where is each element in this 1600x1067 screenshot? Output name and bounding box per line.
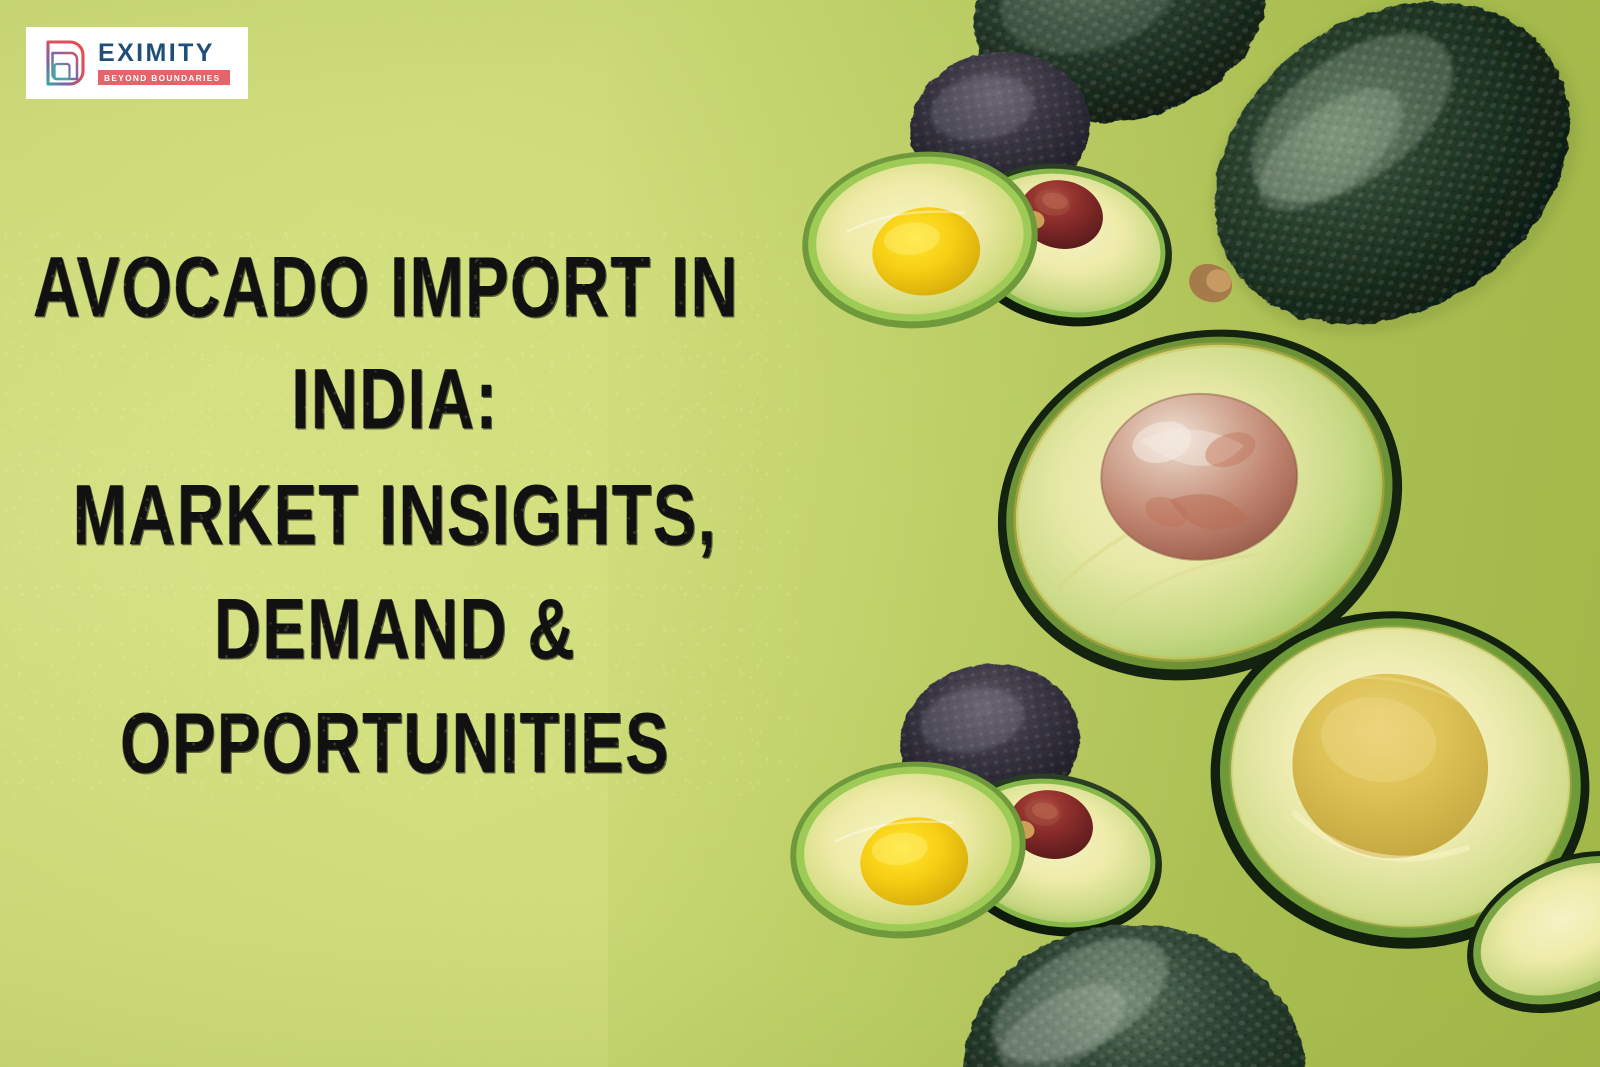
headline-line-3: MARKET INSIGHTS, bbox=[28, 472, 763, 557]
headline-line-2: INDIA: bbox=[28, 356, 763, 441]
avocado-whole-bottom-center bbox=[948, 908, 1321, 1067]
logo-wordmark: EXIMITY BEYOND BOUNDARIES bbox=[98, 41, 230, 85]
eximity-nested-squares-mark bbox=[44, 38, 86, 88]
headline-line-1: AVOCADO IMPORT IN bbox=[10, 244, 761, 329]
logo-tagline: BEYOND BOUNDARIES bbox=[104, 74, 224, 82]
headline-line-4: DEMAND & bbox=[28, 586, 763, 671]
logo-tagline-bar: BEYOND BOUNDARIES bbox=[98, 70, 230, 85]
eximity-logo[interactable]: EXIMITY BEYOND BOUNDARIES bbox=[26, 27, 248, 99]
page-title: AVOCADO IMPORT IN INDIA: MARKET INSIGHTS… bbox=[0, 244, 790, 770]
logo-name: EXIMITY bbox=[98, 41, 230, 66]
headline-line-5: OPPORTUNITIES bbox=[28, 700, 763, 785]
avocado-cluster-bottom-left bbox=[781, 652, 1177, 955]
poster-canvas: EXIMITY BEYOND BOUNDARIES AVOCADO IMPORT… bbox=[0, 0, 1600, 1067]
